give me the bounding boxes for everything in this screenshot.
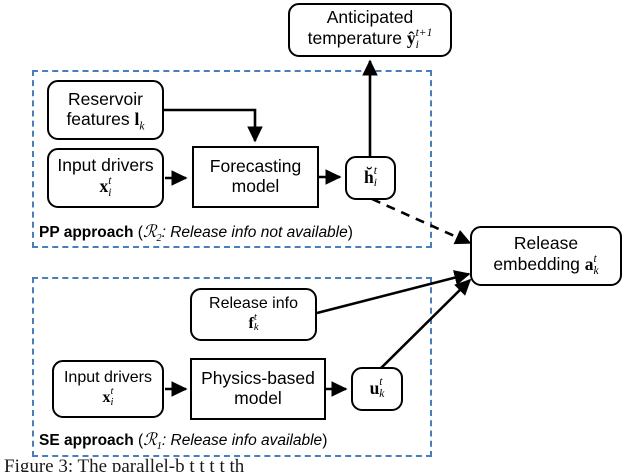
pp-approach-name: PP approach	[39, 224, 133, 241]
anticipated-temperature-line1: Anticipated	[327, 7, 414, 27]
physics-model-line1: Physics-based	[201, 368, 315, 388]
forecasting-model-line1: Forecasting	[210, 156, 301, 176]
se-approach-name: SE approach	[39, 432, 134, 449]
input-drivers-se-symbol: xti	[103, 389, 114, 406]
node-forecasting-model[interactable]: Forecasting model	[192, 146, 319, 208]
node-release-embedding[interactable]: Release embedding atk	[470, 226, 622, 286]
figure-caption-text: Figure 3: The parallel-b t t t t th	[0, 458, 244, 472]
node-hidden-state[interactable]: h̆ti	[345, 156, 396, 200]
release-info-symbol: ftk	[248, 315, 258, 332]
node-physics-based-model[interactable]: Physics-based model	[190, 358, 326, 420]
pp-approach-label: PP approach (ℛ2: Release info not availa…	[39, 222, 353, 242]
reservoir-features-line1: Reservoir	[68, 89, 143, 109]
se-approach-label: SE approach (ℛ1: Release info available)	[39, 430, 327, 450]
release-info-line1: Release info	[209, 295, 298, 312]
physics-model-line2: model	[234, 388, 282, 408]
node-anticipated-temperature[interactable]: Anticipated temperature ŷt+1i	[288, 3, 452, 57]
node-input-drivers-pp[interactable]: Input drivers xti	[47, 148, 164, 208]
forecasting-model-line2: model	[232, 176, 280, 196]
node-release-info[interactable]: Release info ftk	[190, 288, 317, 341]
physics-output-symbol: utk	[370, 378, 385, 398]
node-reservoir-features[interactable]: Reservoir features lk	[47, 80, 164, 140]
anticipated-temperature-line2: temperature ŷt+1i	[308, 28, 433, 48]
input-drivers-se-line1: Input drivers	[64, 369, 152, 386]
node-physics-output[interactable]: utk	[351, 367, 403, 411]
release-embedding-line1: Release	[514, 233, 578, 253]
release-embedding-line2: embedding atk	[493, 254, 598, 274]
reservoir-features-line2: features lk	[66, 109, 144, 129]
node-input-drivers-se[interactable]: Input drivers xti	[52, 360, 164, 418]
hidden-state-symbol: h̆ti	[364, 167, 377, 187]
input-drivers-pp-symbol: xti	[100, 176, 112, 196]
figure-caption: Figure 3: The parallel-b t t t t th	[0, 458, 630, 472]
figure-canvas: Anticipated temperature ŷt+1i Reservoir …	[0, 0, 630, 472]
input-drivers-pp-line1: Input drivers	[57, 155, 153, 175]
